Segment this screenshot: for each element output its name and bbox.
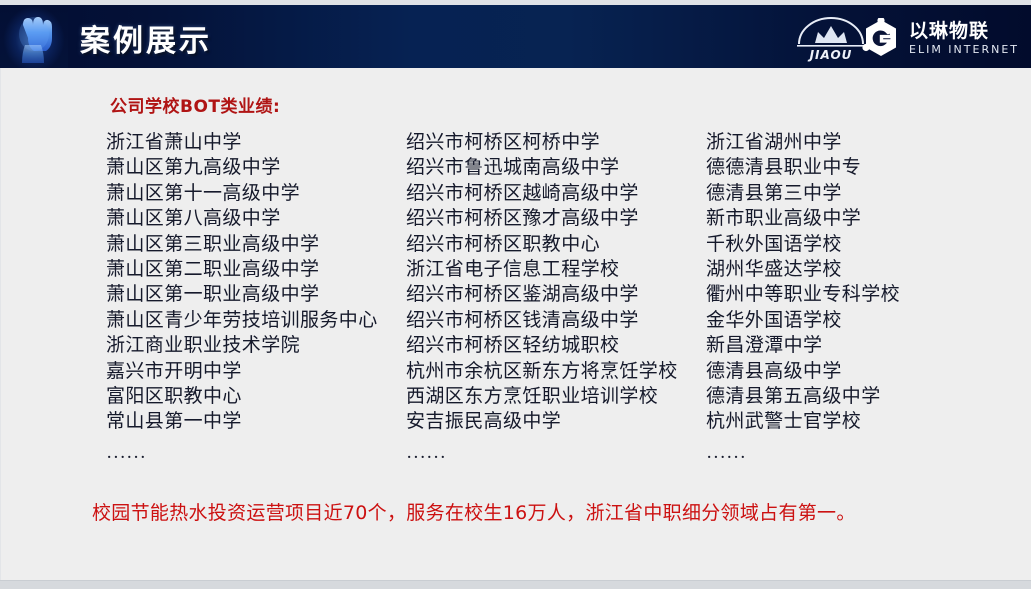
list-item: 德清县第三中学 — [706, 181, 1006, 206]
elim-logo: 以琳物联 ELIM INTERNET — [861, 17, 1019, 59]
list-item: 德德清县职业中专 — [706, 155, 1006, 180]
list-item: 萧山区第九高级中学 — [106, 155, 406, 180]
elim-logo-wordmark: 以琳物联 ELIM INTERNET — [909, 22, 1019, 55]
list-item: 浙江商业职业技术学院 — [106, 333, 406, 358]
summary-footnote: 校园节能热水投资运营项目近70个，服务在校生16万人，浙江省中职细分领域占有第一… — [92, 498, 856, 525]
list-item: 萧山区第三职业高级中学 — [106, 232, 406, 257]
bottom-strip — [0, 581, 1031, 589]
list-item: 衢州中等职业专科学校 — [706, 282, 1006, 307]
content-left-edge — [0, 68, 1, 580]
section-title: 公司学校BOT类业绩: — [110, 92, 280, 117]
list-ellipsis: ······ — [706, 445, 1006, 470]
list-item: 绍兴市柯桥区豫才高级中学 — [406, 206, 706, 231]
raised-fist-icon — [0, 5, 68, 68]
slide: 案例展示 JIAOU 以琳物联 ELIM INTERNET 公 — [0, 0, 1031, 589]
list-ellipsis: ······ — [106, 445, 406, 470]
list-item: 绍兴市柯桥区越崎高级中学 — [406, 181, 706, 206]
list-item: 绍兴市柯桥区轻纺城职校 — [406, 333, 706, 358]
elim-logo-en: ELIM INTERNET — [909, 44, 1019, 55]
list-item: 萧山区第十一高级中学 — [106, 181, 406, 206]
list-item: 萧山区第一职业高级中学 — [106, 282, 406, 307]
list-item: 金华外国语学校 — [706, 308, 1006, 333]
list-item: 嘉兴市开明中学 — [106, 359, 406, 384]
elim-logo-cn: 以琳物联 — [909, 22, 1019, 41]
school-list: 浙江省萧山中学 萧山区第九高级中学 萧山区第十一高级中学 萧山区第八高级中学 萧… — [106, 130, 1006, 470]
list-item: 新昌澄潭中学 — [706, 333, 1006, 358]
list-item: 绍兴市鲁迅城南高级中学 — [406, 155, 706, 180]
list-item: 千秋外国语学校 — [706, 232, 1006, 257]
list-item: 安吉振民高级中学 — [406, 409, 706, 434]
list-item: 西湖区东方烹饪职业培训学校 — [406, 384, 706, 409]
list-item: 萧山区第二职业高级中学 — [106, 257, 406, 282]
list-item: 湖州华盛达学校 — [706, 257, 1006, 282]
list-item: 新市职业高级中学 — [706, 206, 1006, 231]
list-item: 杭州武警士官学校 — [706, 409, 1006, 434]
list-item: 绍兴市柯桥区钱清高级中学 — [406, 308, 706, 333]
school-column-2: 绍兴市柯桥区柯桥中学 绍兴市鲁迅城南高级中学 绍兴市柯桥区越崎高级中学 绍兴市柯… — [406, 130, 706, 470]
raised-fist-glyph — [13, 9, 55, 65]
g-hexagon-mark — [861, 18, 901, 58]
school-column-3: 浙江省湖州中学 德德清县职业中专 德清县第三中学 新市职业高级中学 千秋外国语学… — [706, 130, 1006, 470]
list-item: 富阳区职教中心 — [106, 384, 406, 409]
page-title: 案例展示 — [80, 16, 212, 60]
list-ellipsis: ······ — [406, 445, 706, 470]
school-column-1: 浙江省萧山中学 萧山区第九高级中学 萧山区第十一高级中学 萧山区第八高级中学 萧… — [106, 130, 406, 470]
list-item: 浙江省萧山中学 — [106, 130, 406, 155]
list-item: 杭州市余杭区新东方将烹饪学校 — [406, 359, 706, 384]
list-item: 浙江省湖州中学 — [706, 130, 1006, 155]
list-item: 绍兴市柯桥区鉴湖高级中学 — [406, 282, 706, 307]
list-item: 常山县第一中学 — [106, 409, 406, 434]
list-item: 绍兴市柯桥区职教中心 — [406, 232, 706, 257]
list-item: 德清县高级中学 — [706, 359, 1006, 384]
list-item: 绍兴市柯桥区柯桥中学 — [406, 130, 706, 155]
list-item: 萧山区青少年劳技培训服务中心 — [106, 308, 406, 333]
list-item: 德清县第五高级中学 — [706, 384, 1006, 409]
list-item: 浙江省电子信息工程学校 — [406, 257, 706, 282]
header-banner: 案例展示 JIAOU 以琳物联 ELIM INTERNET — [0, 5, 1031, 68]
list-item: 萧山区第八高级中学 — [106, 206, 406, 231]
